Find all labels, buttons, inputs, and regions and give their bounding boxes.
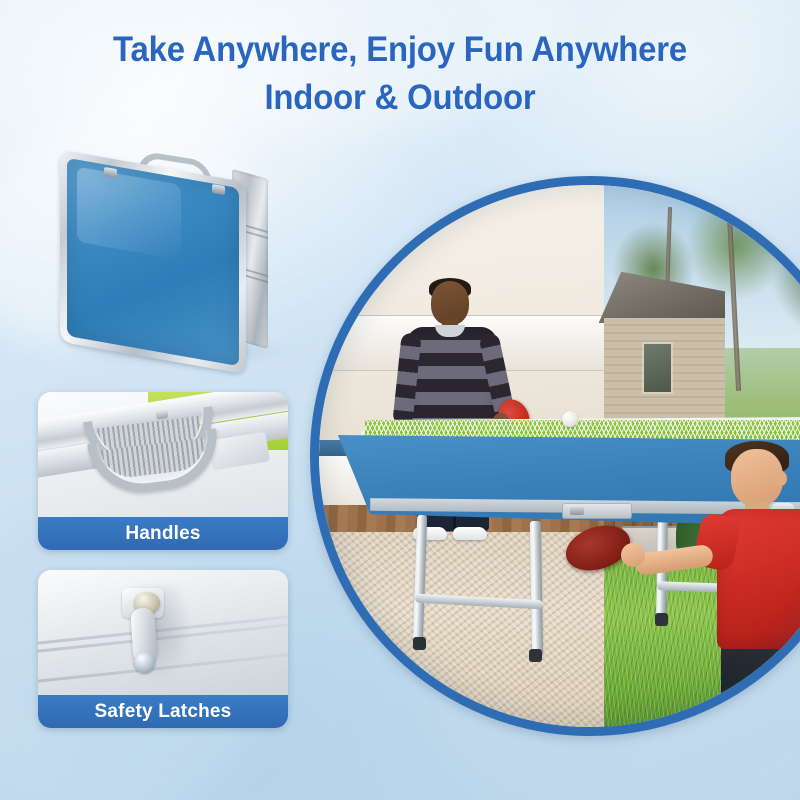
carpet-floor [319,532,604,727]
feature-card-latches: Safety Latches [38,570,288,728]
case-latch-icon [104,167,117,178]
outdoor-backyard-scene [604,185,800,727]
indoor-outdoor-split-circle [310,176,800,736]
headline-line-1: Take Anywhere, Enjoy Fun Anywhere [113,30,687,69]
cups-on-counter [510,418,600,445]
house-window [642,342,674,394]
handles-closeup-photo [38,392,288,517]
house [599,272,726,456]
feature-card-label-latches: Safety Latches [38,695,288,728]
case-latch-icon [212,184,225,195]
screw-icon [155,409,168,420]
indoor-kitchen-scene [319,185,604,727]
latch-ball-pin [134,652,155,673]
headline-line-2: Indoor & Outdoor [24,74,776,122]
marketing-banner: Take Anywhere, Enjoy Fun Anywhere Indoor… [0,0,800,800]
feature-card-handles: Handles [38,392,288,550]
feature-card-label-handles: Handles [38,517,288,550]
headline: Take Anywhere, Enjoy Fun Anywhere Indoor… [24,26,776,122]
safety-latch-closeup-photo [38,570,288,695]
grass-lawn [604,554,800,727]
case-aluminum-frame [60,150,246,375]
kitchen-cabinet [319,315,604,371]
folded-table-case [46,150,316,380]
